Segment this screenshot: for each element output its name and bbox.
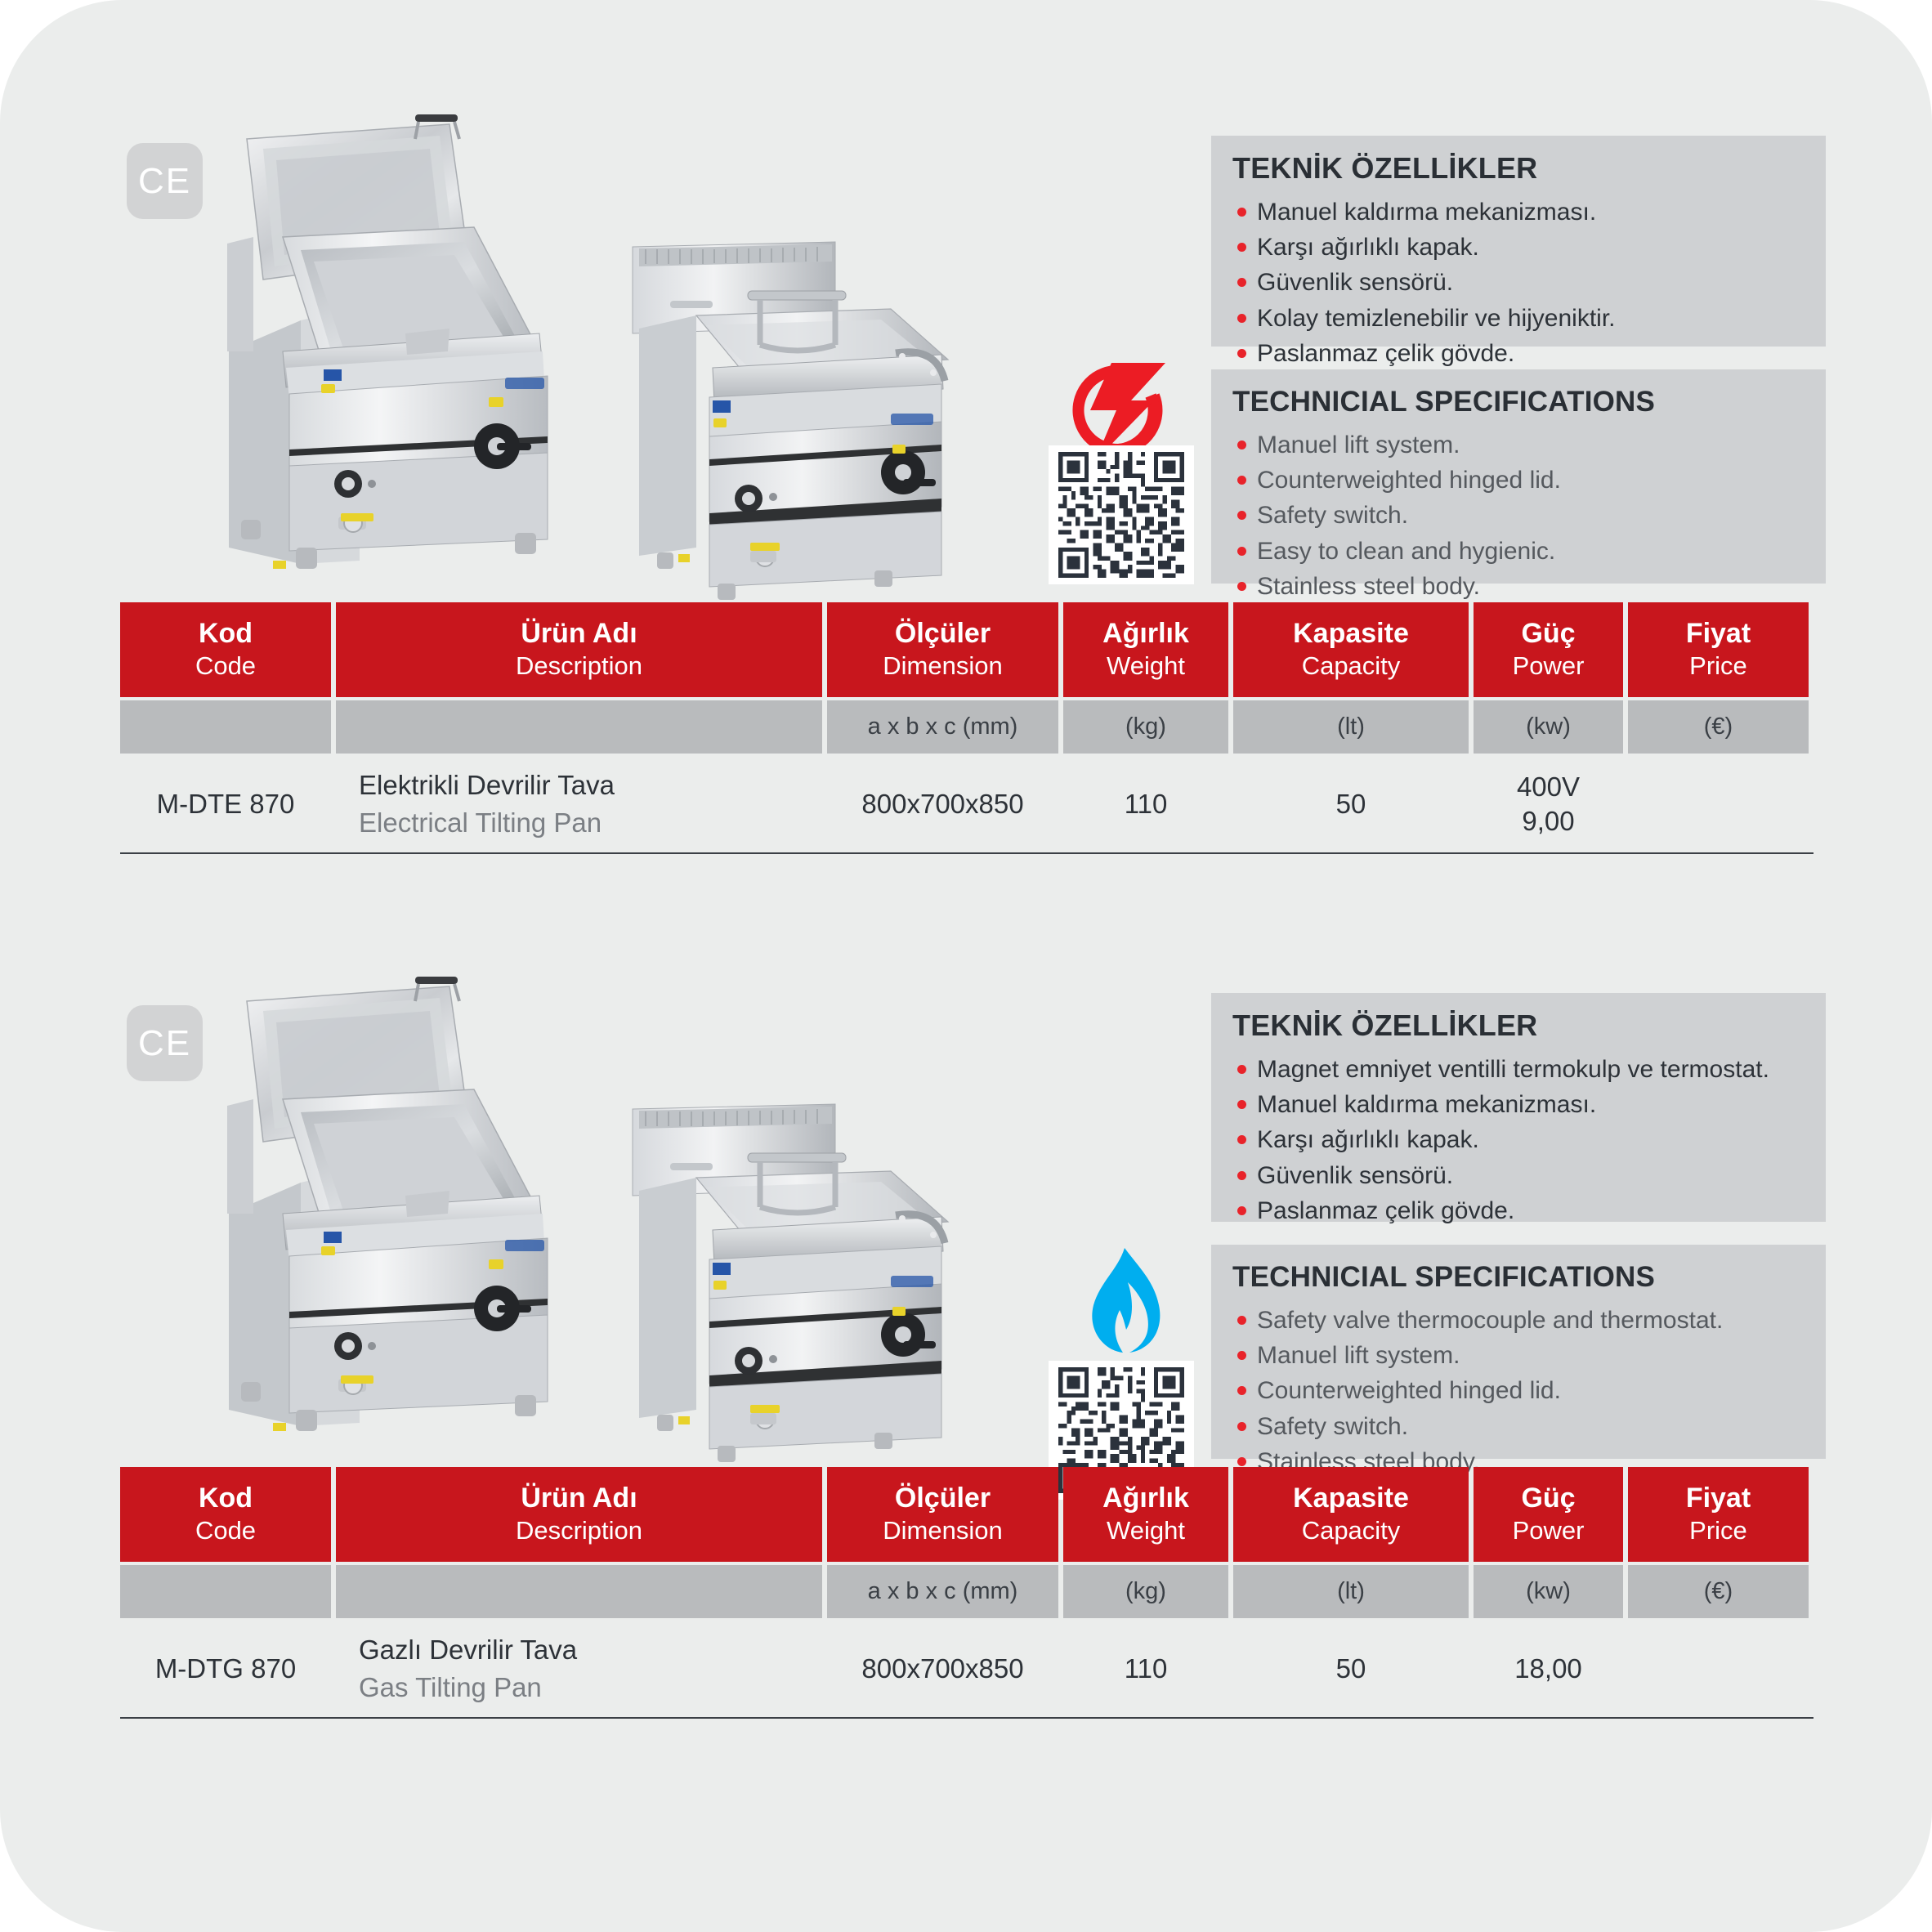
product-photo-lid-closed [621, 237, 973, 605]
spec-item: Paslanmaz çelik gövde. [1232, 336, 1805, 371]
product-photo-lid-open [204, 968, 605, 1467]
spec-item: Kolay temizlenebilir ve hijyeniktir. [1232, 301, 1805, 336]
spec-item: Manuel lift system. [1232, 427, 1805, 463]
product-name-en: Electrical Tilting Pan [359, 804, 822, 842]
product-table-gas: Kod Code Ürün Adı Description Ölçüler Di… [120, 1467, 1813, 1719]
specs-title-en: TECHNICIAL SPECIFICATIONS [1232, 387, 1805, 416]
spec-item: Güvenlik sensörü. [1232, 265, 1805, 300]
spec-item: Counterweighted hinged lid. [1232, 463, 1805, 498]
cell-dimension: 800x700x850 [827, 1653, 1058, 1684]
spec-item: Easy to clean and hygienic. [1232, 534, 1805, 569]
table-row: M-DTG 870 Gazlı Devrilir Tava Gas Tiltin… [120, 1618, 1813, 1719]
specs-title-tr: TEKNİK ÖZELLİKLER [1232, 154, 1805, 183]
unit-cell-weight: (kg) [1063, 1565, 1228, 1618]
unit-cell-description [336, 700, 822, 754]
spec-item: Stainless steel body. [1232, 569, 1805, 604]
header-cell-description: Ürün Adı Description [336, 602, 822, 697]
product-photo-lid-closed [621, 1099, 973, 1467]
power-kw: 9,00 [1474, 804, 1623, 839]
cell-code: M-DTE 870 [120, 789, 331, 820]
header-cell-code: Kod Code [120, 1467, 331, 1562]
table-header-row: Kod Code Ürün Adı Description Ölçüler Di… [120, 602, 1813, 697]
unit-cell-weight: (kg) [1063, 700, 1228, 754]
header-cell-power: Güç Power [1474, 1467, 1623, 1562]
specs-list-tr: Magnet emniyet ventilli termokulp ve ter… [1232, 1052, 1805, 1228]
technical-specs-panel-en: TECHNICIAL SPECIFICATIONS Manuel lift sy… [1211, 369, 1826, 584]
unit-cell-code [120, 700, 331, 754]
cell-power: 18,00 [1474, 1652, 1623, 1686]
ce-mark-badge: CE [127, 1005, 203, 1081]
product-name-tr: Elektrikli Devrilir Tava [359, 767, 822, 804]
header-cell-dimension: Ölçüler Dimension [827, 1467, 1058, 1562]
header-cell-capacity: Kapasite Capacity [1233, 1467, 1469, 1562]
specs-list-en: Safety valve thermocouple and thermostat… [1232, 1303, 1805, 1479]
unit-cell-power: (kw) [1474, 1565, 1623, 1618]
spec-item: Paslanmaz çelik gövde. [1232, 1193, 1805, 1228]
table-unit-row: a x b x c (mm) (kg) (lt) (kw) (€) [120, 700, 1813, 754]
cell-description: Elektrikli Devrilir Tava Electrical Tilt… [336, 767, 822, 841]
ce-mark-label: CE [138, 1026, 191, 1062]
spec-item: Manuel kaldırma mekanizması. [1232, 1087, 1805, 1122]
spec-item: Safety valve thermocouple and thermostat… [1232, 1303, 1805, 1338]
spec-item: Manuel lift system. [1232, 1338, 1805, 1373]
cell-capacity: 50 [1233, 1653, 1469, 1684]
catalog-page: CE [0, 0, 1932, 1932]
qr-code[interactable] [1049, 445, 1194, 584]
unit-cell-capacity: (lt) [1233, 700, 1469, 754]
ce-mark-label: CE [138, 163, 191, 199]
header-cell-description: Ürün Adı Description [336, 1467, 822, 1562]
table-header-row: Kod Code Ürün Adı Description Ölçüler Di… [120, 1467, 1813, 1562]
technical-specs-panel-en: TECHNICIAL SPECIFICATIONS Safety valve t… [1211, 1245, 1826, 1459]
product-table-electric: Kod Code Ürün Adı Description Ölçüler Di… [120, 602, 1813, 854]
spec-item: Safety switch. [1232, 1409, 1805, 1444]
spec-item: Counterweighted hinged lid. [1232, 1373, 1805, 1408]
power-value: 18,00 [1474, 1652, 1623, 1686]
unit-cell-dimension: a x b x c (mm) [827, 700, 1058, 754]
unit-cell-dimension: a x b x c (mm) [827, 1565, 1058, 1618]
header-cell-weight: Ağırlık Weight [1063, 1467, 1228, 1562]
technical-specs-panel-tr: TEKNİK ÖZELLİKLER Manuel kaldırma mekani… [1211, 136, 1826, 347]
cell-weight: 110 [1063, 1653, 1228, 1684]
header-cell-capacity: Kapasite Capacity [1233, 602, 1469, 697]
cell-power: 400V 9,00 [1474, 770, 1623, 839]
cell-code: M-DTG 870 [120, 1653, 331, 1684]
unit-cell-power: (kw) [1474, 700, 1623, 754]
product-name-tr: Gazlı Devrilir Tava [359, 1631, 822, 1669]
technical-specs-panel-tr: TEKNİK ÖZELLİKLER Magnet emniyet ventill… [1211, 993, 1826, 1222]
specs-list-tr: Manuel kaldırma mekanizması. Karşı ağırl… [1232, 195, 1805, 371]
cell-dimension: 800x700x850 [827, 789, 1058, 820]
product-photo-lid-open [204, 106, 605, 605]
header-cell-code: Kod Code [120, 602, 331, 697]
specs-title-tr: TEKNİK ÖZELLİKLER [1232, 1011, 1805, 1040]
spec-item: Safety switch. [1232, 498, 1805, 533]
header-cell-weight: Ağırlık Weight [1063, 602, 1228, 697]
table-unit-row: a x b x c (mm) (kg) (lt) (kw) (€) [120, 1565, 1813, 1618]
spec-item: Karşı ağırlıklı kapak. [1232, 1122, 1805, 1157]
unit-cell-code [120, 1565, 331, 1618]
unit-cell-price: (€) [1628, 1565, 1809, 1618]
gas-flame-icon [1077, 1246, 1175, 1361]
header-cell-price: Fiyat Price [1628, 602, 1809, 697]
cell-capacity: 50 [1233, 789, 1469, 820]
table-row: M-DTE 870 Elektrikli Devrilir Tava Elect… [120, 754, 1813, 854]
header-cell-dimension: Ölçüler Dimension [827, 602, 1058, 697]
header-cell-price: Fiyat Price [1628, 1467, 1809, 1562]
power-voltage: 400V [1474, 770, 1623, 804]
spec-item: Karşı ağırlıklı kapak. [1232, 230, 1805, 265]
spec-item: Magnet emniyet ventilli termokulp ve ter… [1232, 1052, 1805, 1087]
ce-mark-badge: CE [127, 143, 203, 219]
header-cell-power: Güç Power [1474, 602, 1623, 697]
cell-description: Gazlı Devrilir Tava Gas Tilting Pan [336, 1631, 822, 1706]
unit-cell-price: (€) [1628, 700, 1809, 754]
specs-list-en: Manuel lift system. Counterweighted hing… [1232, 427, 1805, 604]
product-name-en: Gas Tilting Pan [359, 1669, 822, 1706]
unit-cell-description [336, 1565, 822, 1618]
cell-weight: 110 [1063, 789, 1228, 820]
unit-cell-capacity: (lt) [1233, 1565, 1469, 1618]
spec-item: Güvenlik sensörü. [1232, 1158, 1805, 1193]
spec-item: Manuel kaldırma mekanizması. [1232, 195, 1805, 230]
specs-title-en: TECHNICIAL SPECIFICATIONS [1232, 1263, 1805, 1291]
